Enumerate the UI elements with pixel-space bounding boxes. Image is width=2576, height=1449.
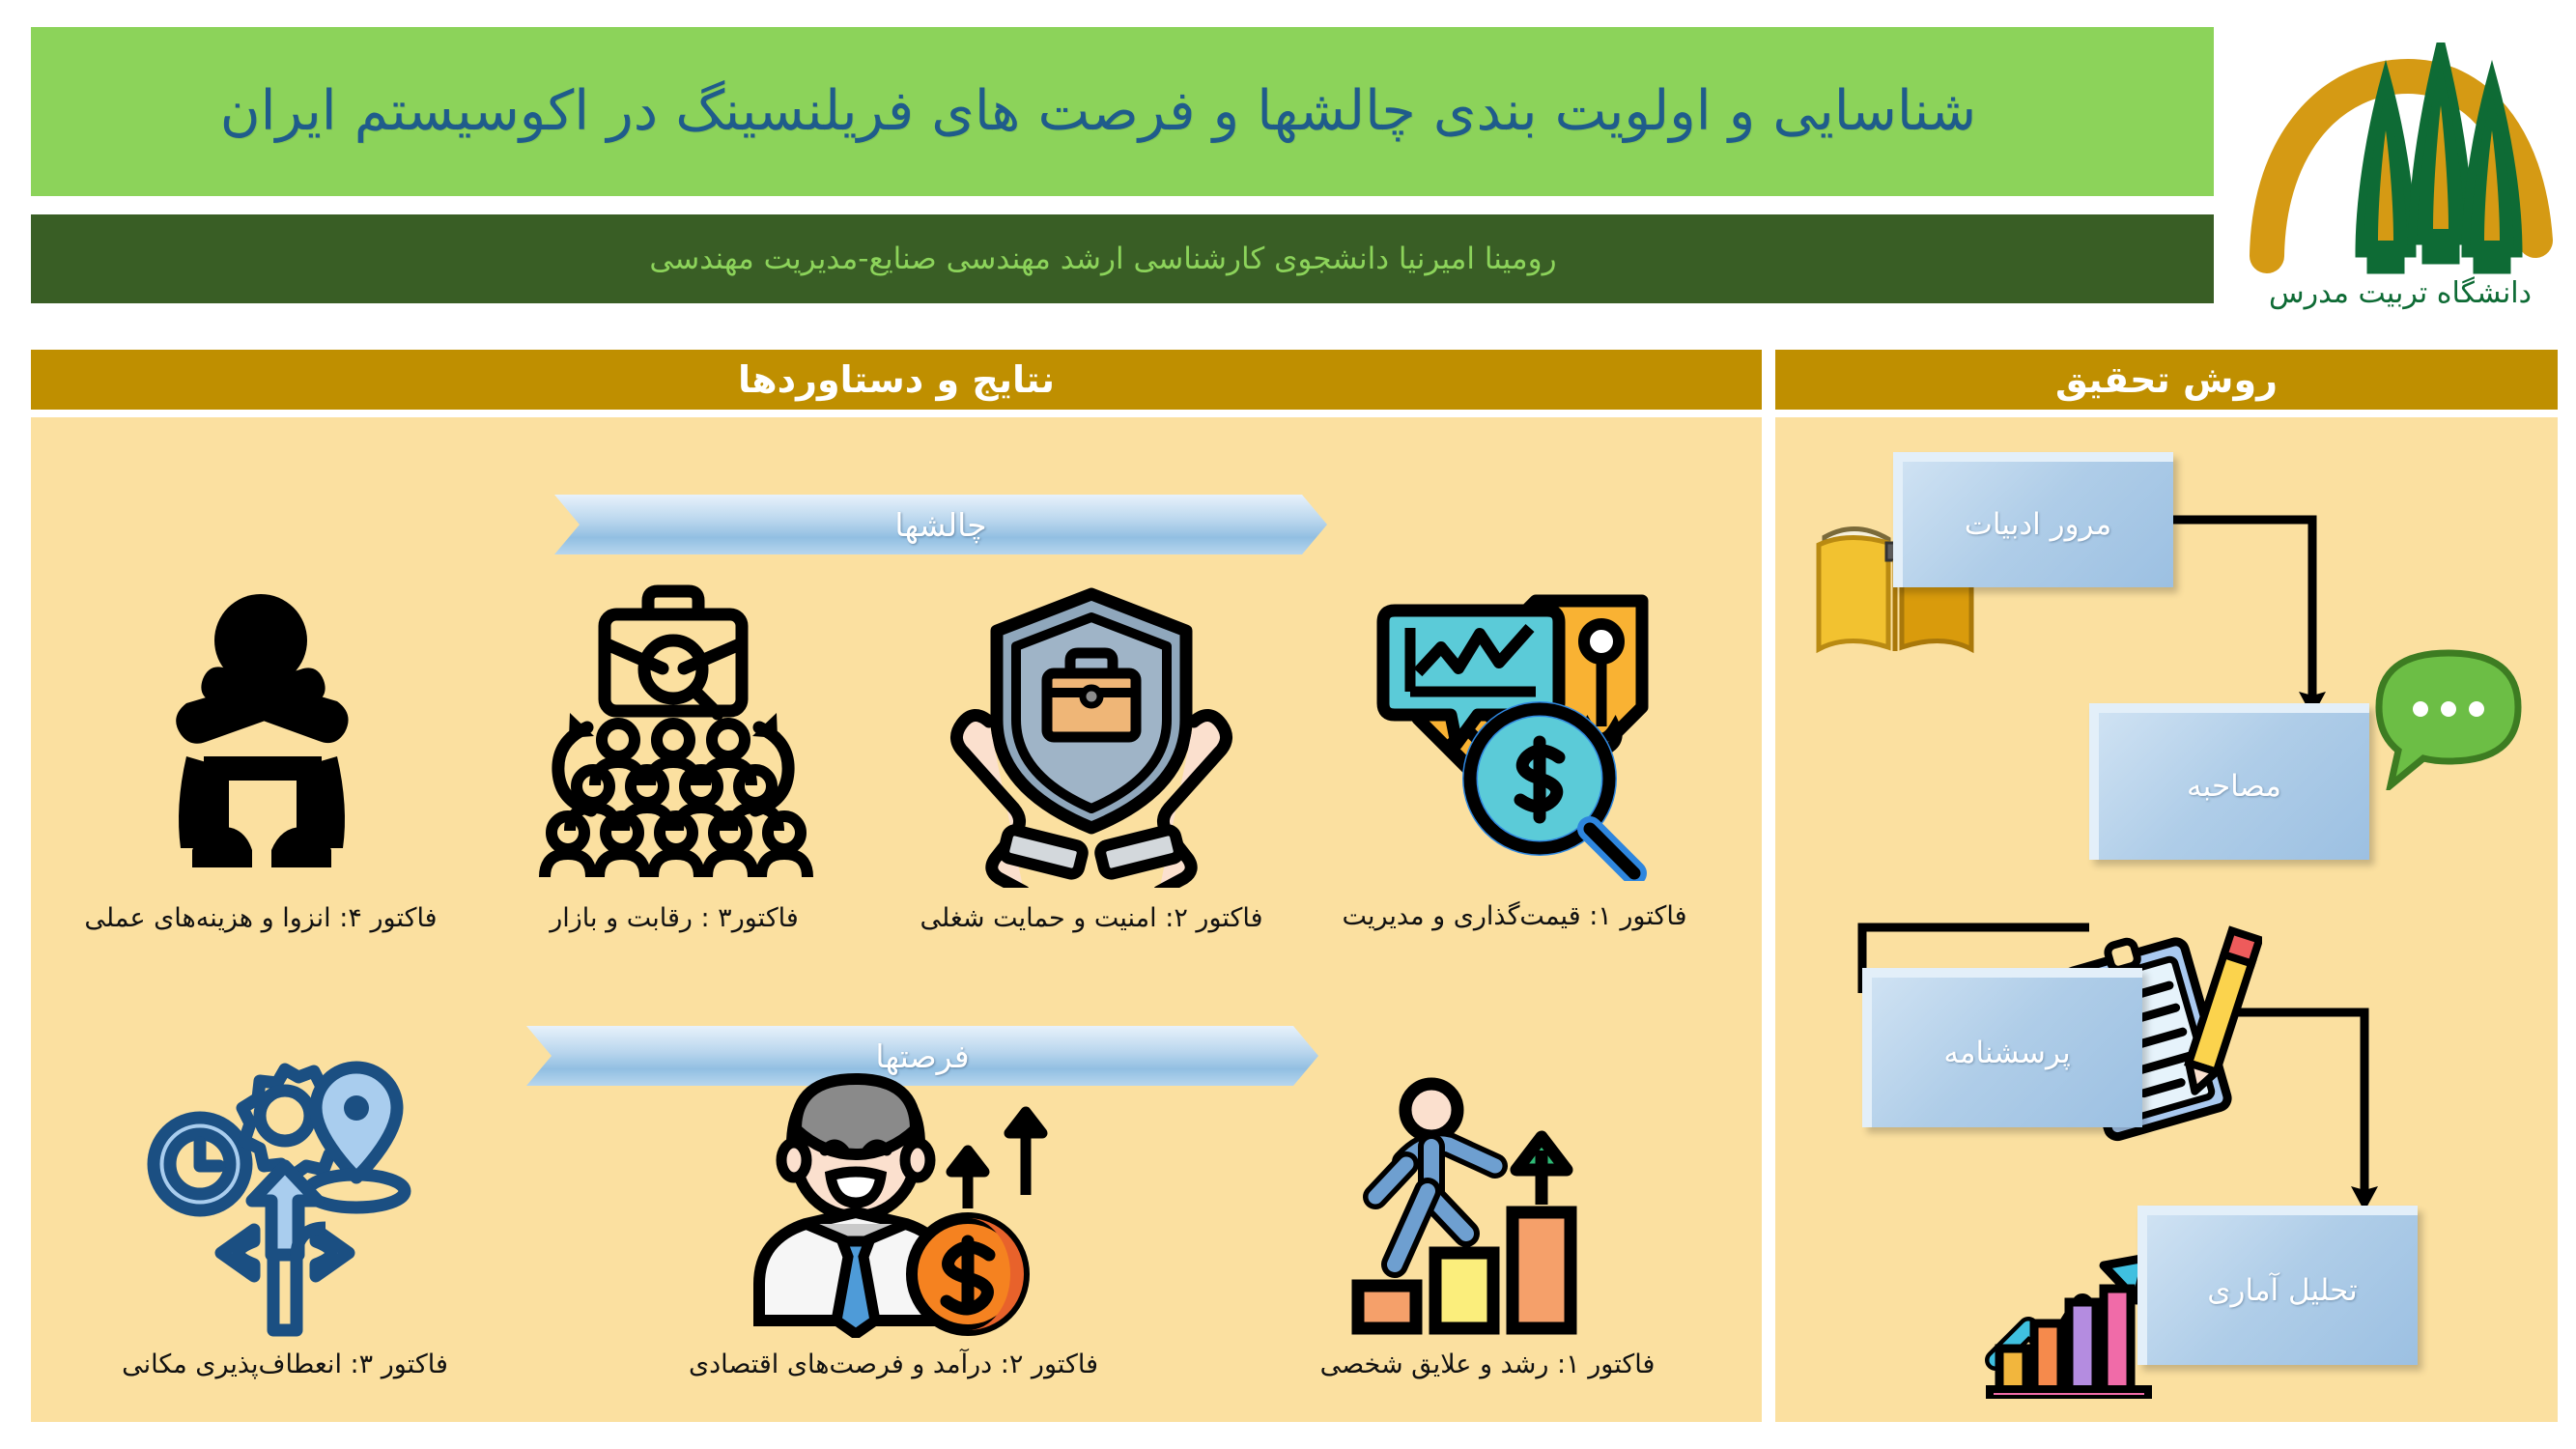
flow-step-label-3: پرسشنامه bbox=[1943, 1036, 2070, 1070]
poster-canvas: شناسایی و اولویت بندی چالشها و فرصت های … bbox=[0, 0, 2576, 1449]
challenge-item-3: فاکتور۳ : رقابت و بازار bbox=[471, 568, 877, 935]
challenge-item-2: فاکتور ۲: امنیت و حمایت شغلی bbox=[889, 570, 1294, 935]
section-header-results: نتایج و دستاوردها bbox=[31, 350, 1762, 410]
flow-step-label-1: مرور ادبیات bbox=[1965, 507, 2112, 542]
challenge-item-4: فاکتور ۴: انزوا و هزینه‌های عملی bbox=[58, 578, 464, 935]
challenges-banner: چالشها bbox=[554, 495, 1327, 554]
tarbiat-modares-logo-icon: دانشگاه تربیت مدرس bbox=[2246, 16, 2555, 316]
flow-step-interview[interactable]: مصاحبه bbox=[2089, 703, 2369, 860]
svg-text:دانشگاه تربیت مدرس: دانشگاه تربیت مدرس bbox=[2269, 276, 2532, 310]
challenge-item-1: فاکتور ۱: قیمت‌گذاری و مدیریت bbox=[1312, 558, 1717, 933]
opportunity-item-2: فاکتور ۲: درآمد و فرصت‌های اقتصادی bbox=[662, 1063, 1125, 1381]
challenge-label-4: فاکتور ۴: انزوا و هزینه‌های عملی bbox=[58, 902, 464, 935]
price-tag-dollar-chart-icon bbox=[1312, 558, 1717, 895]
opportunity-item-1: فاکتور ۱: رشد و علایق شخصی bbox=[1275, 1072, 1700, 1381]
flow-step-label-2: مصاحبه bbox=[2187, 769, 2281, 804]
job-search-crowd-icon bbox=[471, 568, 877, 896]
section-title-method: روش تحقیق bbox=[2055, 358, 2278, 401]
flexibility-clock-pin-gear-icon bbox=[72, 1053, 497, 1343]
section-header-method: روش تحقیق bbox=[1775, 350, 2558, 410]
flow-step-questionnaire[interactable]: پرسشنامه bbox=[1862, 968, 2142, 1127]
flow-step-statistical-analysis[interactable]: تحلیل آماری bbox=[2137, 1206, 2418, 1365]
speech-bubble-icon bbox=[2366, 645, 2531, 794]
challenges-banner-label: چالشها bbox=[894, 506, 986, 544]
poster-title-bar: شناسایی و اولویت بندی چالشها و فرصت های … bbox=[31, 27, 2214, 196]
page-title: شناسایی و اولویت بندی چالشها و فرصت های … bbox=[132, 75, 2112, 148]
opportunity-item-3: فاکتور ۳: انعطاف‌پذیری مکانی bbox=[72, 1053, 497, 1381]
shield-briefcase-hands-icon bbox=[889, 570, 1294, 896]
businessman-dollar-growth-icon bbox=[662, 1063, 1125, 1343]
challenge-label-2: فاکتور ۲: امنیت و حمایت شغلی bbox=[889, 902, 1294, 935]
person-sitting-alone-icon bbox=[58, 578, 464, 896]
section-title-results: نتایج و دستاوردها bbox=[738, 358, 1055, 401]
person-climbing-bars-icon bbox=[1275, 1072, 1700, 1343]
challenge-label-3: فاکتور۳ : رقابت و بازار bbox=[471, 902, 877, 935]
flow-step-label-4: تحلیل آماری bbox=[2207, 1273, 2357, 1308]
challenge-label-1: فاکتور ۱: قیمت‌گذاری و مدیریت bbox=[1312, 900, 1717, 933]
author-name: رومینا امیرنیا دانشجوی کارشناسی ارشد مهن… bbox=[156, 241, 2088, 276]
university-logo: دانشگاه تربیت مدرس bbox=[2241, 12, 2560, 321]
opportunity-label-2: فاکتور ۲: درآمد و فرصت‌های اقتصادی bbox=[662, 1349, 1125, 1381]
author-bar: رومینا امیرنیا دانشجوی کارشناسی ارشد مهن… bbox=[31, 214, 2214, 303]
opportunity-label-3: فاکتور ۳: انعطاف‌پذیری مکانی bbox=[72, 1349, 497, 1381]
opportunity-label-1: فاکتور ۱: رشد و علایق شخصی bbox=[1275, 1349, 1700, 1381]
flow-step-literature-review[interactable]: مرور ادبیات bbox=[1893, 452, 2173, 587]
